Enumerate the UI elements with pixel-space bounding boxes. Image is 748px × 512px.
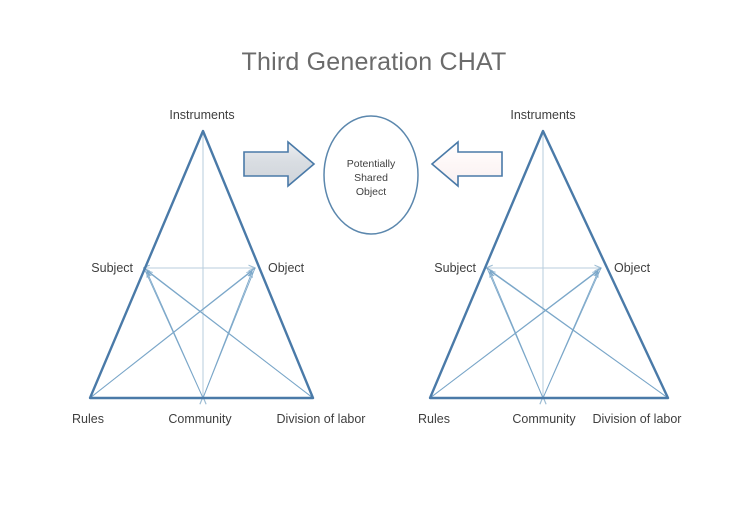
- node-label-community-left: Community: [168, 412, 232, 426]
- line-rules-object-right: [430, 271, 598, 398]
- node-label-rules-left: Rules: [72, 412, 104, 426]
- line-community-subject-left: [147, 272, 203, 398]
- shared-object-line-3: Object: [356, 186, 386, 198]
- arrow-left-to-center-icon: [244, 142, 314, 186]
- node-label-object-left: Object: [268, 261, 305, 275]
- diagram-canvas: Third Generation CHAT: [0, 0, 748, 512]
- node-label-instruments-right: Instruments: [510, 108, 575, 122]
- chat-diagram: Third Generation CHAT: [0, 0, 748, 512]
- node-label-community-right: Community: [512, 412, 576, 426]
- line-community-subject-right: [490, 272, 543, 398]
- shared-object-line-2: Shared: [354, 172, 388, 184]
- node-label-instruments-left: Instruments: [169, 108, 234, 122]
- activity-system-left: Instruments Subject Object Rules Communi…: [72, 108, 365, 426]
- node-label-object-right: Object: [614, 261, 651, 275]
- shared-object-line-1: Potentially: [347, 158, 396, 170]
- node-label-division-of-labor-right: Division of labor: [593, 412, 682, 426]
- page-title: Third Generation CHAT: [242, 48, 507, 76]
- node-label-division-of-labor-left: Division of labor: [277, 412, 366, 426]
- node-label-subject-right: Subject: [434, 261, 476, 275]
- potentially-shared-object-node: Potentially Shared Object: [324, 116, 418, 234]
- arrow-right-to-center-icon: [432, 142, 502, 186]
- node-label-subject-left: Subject: [91, 261, 133, 275]
- node-label-rules-right: Rules: [418, 412, 450, 426]
- line-community-object-left: [203, 272, 252, 398]
